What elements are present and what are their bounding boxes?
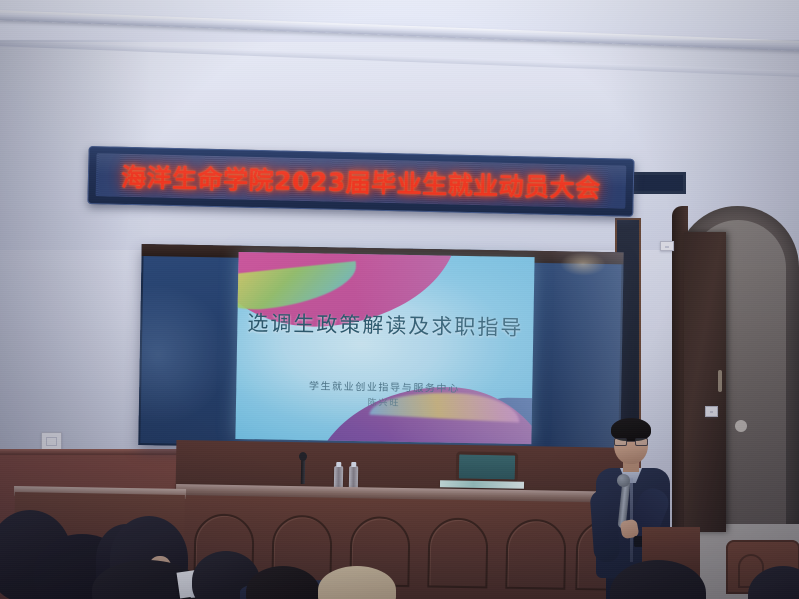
microphone-head-icon bbox=[617, 474, 630, 487]
stage-chair[interactable] bbox=[456, 451, 519, 482]
desk-microphone-head bbox=[299, 452, 307, 461]
desk-microphone-stand[interactable] bbox=[301, 458, 305, 484]
wall-switch-plate-upper[interactable] bbox=[660, 241, 674, 251]
slide-title: 选调生政策解读及求职指导 bbox=[237, 307, 533, 342]
led-banner-text: 海洋生命学院2023届毕业生就业动员大会 bbox=[121, 157, 601, 204]
photo-canvas: 海洋生命学院2023届毕业生就业动员大会 选调生政策解读及求职指导 学生就业创业… bbox=[0, 0, 799, 599]
presenter-arm-left bbox=[590, 489, 621, 563]
door-light-spot bbox=[735, 420, 747, 432]
door-handle[interactable] bbox=[718, 370, 722, 392]
wall-switch-plate-lower[interactable] bbox=[705, 406, 718, 417]
wall-shadow-left bbox=[0, 40, 150, 470]
board-glare-left bbox=[139, 284, 231, 426]
desk-name-card bbox=[440, 480, 524, 488]
projected-slide: 选调生政策解读及求职指导 学生就业创业指导与服务中心 陈兴旺 bbox=[235, 252, 534, 444]
podium-arch-motif bbox=[505, 519, 566, 590]
podium-arch-motif bbox=[427, 517, 488, 588]
glasses-icon bbox=[614, 438, 648, 446]
